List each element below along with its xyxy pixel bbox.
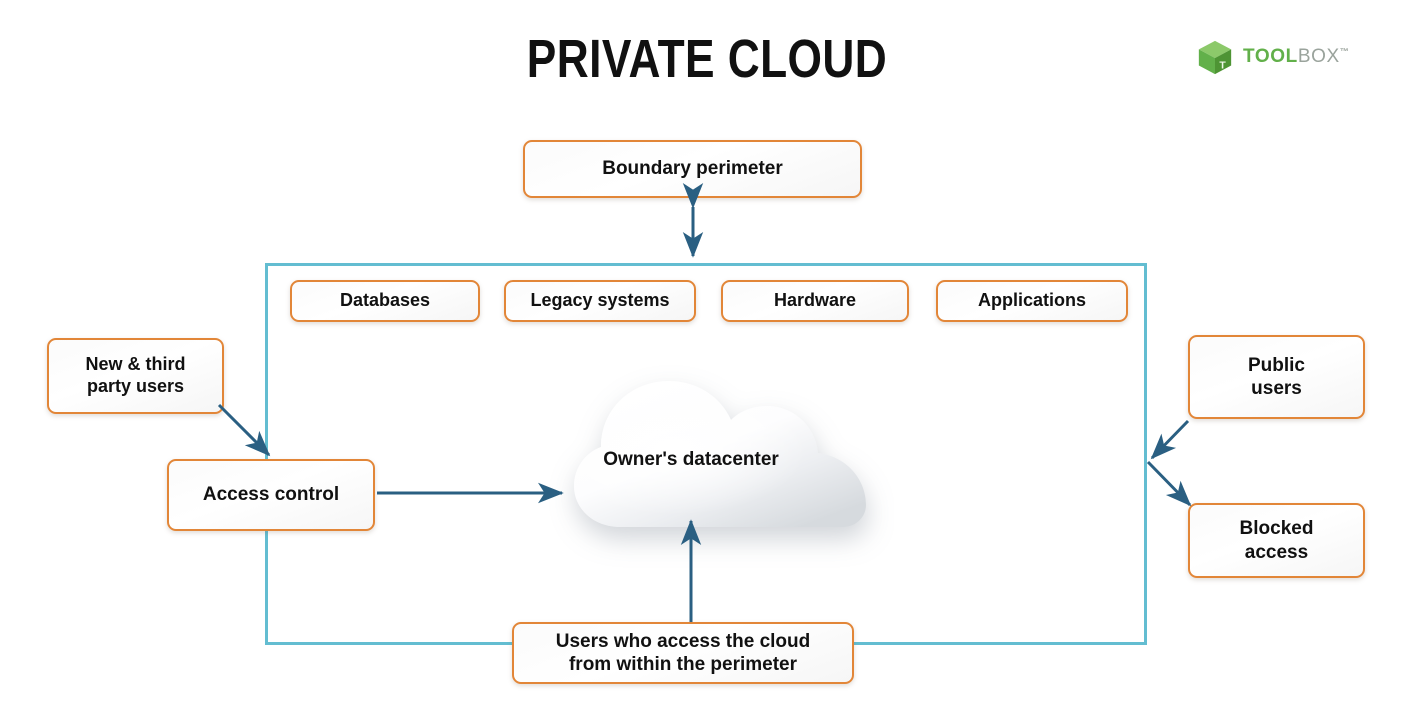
box-users-within-perimeter[interactable]: Users who access the cloudfrom within th…	[512, 622, 854, 684]
box-blocked-access[interactable]: Blockedaccess	[1188, 503, 1365, 578]
box-databases[interactable]: Databases	[290, 280, 480, 322]
box-applications[interactable]: Applications	[936, 280, 1128, 322]
logo-text-box: BOX	[1298, 46, 1340, 67]
page-title: PRIVATE CLOUD	[127, 28, 1286, 90]
svg-text:T: T	[1219, 60, 1226, 71]
diagram-canvas: PRIVATE CLOUD T TOOLBOX™	[0, 0, 1414, 720]
box-access-control[interactable]: Access control	[167, 459, 375, 531]
box-hardware[interactable]: Hardware	[721, 280, 909, 322]
arrow-new-third-party-to-access-control	[219, 405, 269, 455]
toolbox-logo-text: TOOLBOX™	[1243, 46, 1349, 68]
logo-trademark: ™	[1340, 47, 1350, 57]
box-new-third-party-users[interactable]: New & thirdparty users	[47, 338, 224, 414]
box-public-users[interactable]: Publicusers	[1188, 335, 1365, 419]
owners-datacenter-cloud: Owner's datacenter	[488, 345, 894, 590]
arrow-public-users-to-perimeter	[1152, 421, 1188, 458]
logo-text-tool: TOOL	[1243, 46, 1298, 67]
green-cube-icon: T	[1196, 38, 1234, 76]
box-legacy-systems[interactable]: Legacy systems	[504, 280, 696, 322]
box-boundary-perimeter[interactable]: Boundary perimeter	[523, 140, 862, 198]
arrow-perimeter-to-blocked-access	[1148, 462, 1190, 505]
toolbox-logo: T TOOLBOX™	[1196, 38, 1349, 76]
